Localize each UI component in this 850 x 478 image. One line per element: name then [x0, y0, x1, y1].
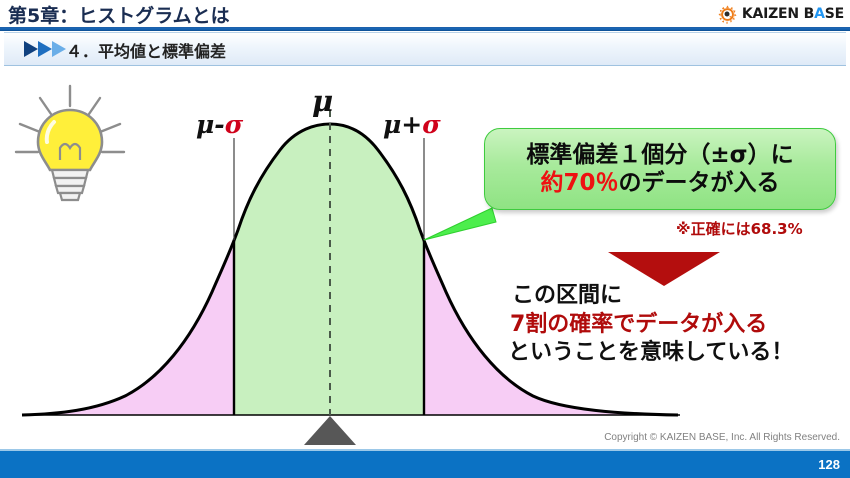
brand-logo: KAIZEN BASE: [718, 3, 844, 25]
callout-box: 標準偏差１個分（±σ）に 約70％のデータが入る: [484, 128, 836, 210]
callout-footnote: ※正確には68.3%: [676, 218, 803, 239]
gear-icon: [718, 5, 737, 24]
title-underline: [0, 27, 850, 31]
mean-label: μ: [312, 84, 333, 118]
page-title: 第5章：ヒストグラムとは: [8, 1, 230, 28]
callout-line-2-suffix: のデータが入る: [619, 170, 780, 196]
section-header-bar: ４．平均値と標準偏差: [4, 32, 846, 66]
message-line-3: ということを意味している！: [508, 339, 848, 368]
left-tail-region: [22, 240, 234, 415]
callout-line-2: 約70％のデータが入る: [540, 169, 779, 197]
slide: 第5章：ヒストグラムとは: [0, 0, 850, 478]
callout-line-1: 標準偏差１個分（±σ）に: [526, 141, 793, 169]
upper-bound-label: μ+σ: [383, 110, 441, 139]
callout-percent: 約70％: [540, 170, 618, 196]
copyright-text: Copyright © KAIZEN BASE, Inc. All Rights…: [604, 432, 840, 443]
title-bar: 第5章：ヒストグラムとは: [0, 0, 850, 28]
lower-bound-label: μ-σ: [196, 110, 243, 139]
message-line-2: 7割の確率でデータが入る: [508, 311, 848, 340]
upper-bound-sigma: σ: [422, 110, 440, 139]
section-title: ４．平均値と標準偏差: [66, 38, 226, 62]
logo-text-part3: E: [835, 6, 844, 22]
logo-text: KAIZEN BASE: [742, 6, 844, 22]
lower-bound-sigma: σ: [225, 110, 243, 139]
logo-text-part1: KAIZEN B: [742, 6, 814, 22]
message-line-1: この区間に: [508, 282, 848, 311]
upper-bound-mu: μ+: [383, 110, 422, 139]
logo-text-part2: S: [825, 6, 835, 22]
up-triangle-marker: [304, 416, 356, 445]
logo-text-highlight: A: [814, 6, 825, 22]
lower-bound-mu: μ-: [196, 110, 225, 139]
conclusion-message: この区間に 7割の確率でデータが入る ということを意味している！: [508, 282, 848, 368]
normal-distribution-chart: [0, 66, 700, 446]
page-number: 128: [818, 457, 840, 472]
footer-bar: [0, 451, 850, 478]
